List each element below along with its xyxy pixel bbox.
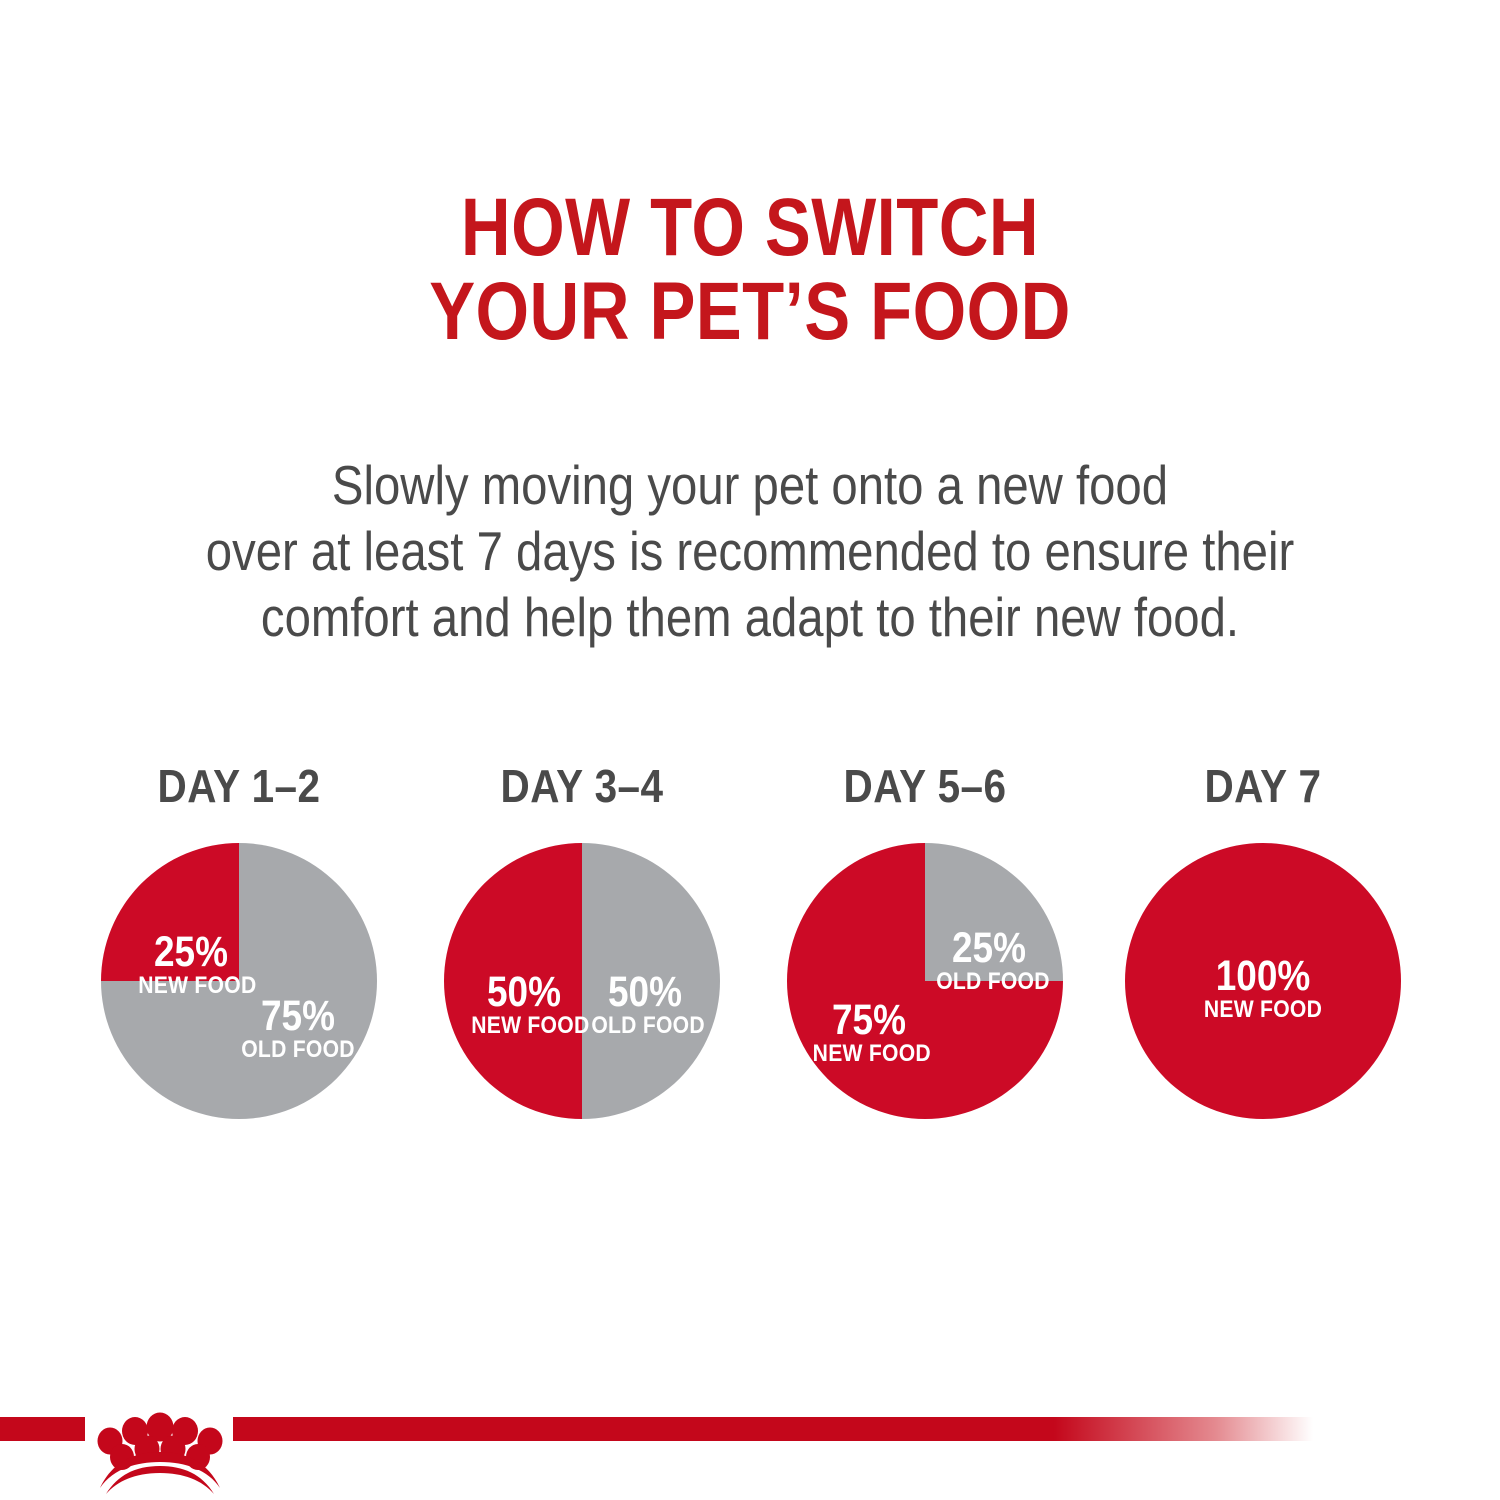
pie-chart-row: DAY 1–2 25% NEW FOOD 75% OLD FOOD DAY 3–… [0,762,1500,1182]
royal-canin-crown-icon [82,1404,238,1494]
page-title: HOW TO SWITCH YOUR PET’S FOOD [0,186,1500,354]
intro-line-2: over at least 7 days is recommended to e… [105,518,1395,584]
footer-bar-right [233,1417,1313,1441]
intro-paragraph: Slowly moving your pet onto a new food o… [0,452,1500,650]
pie-group-day-3-4: DAY 3–4 50% NEW FOOD 50% OLD FOOD [407,762,757,1182]
pie-chart-day-1-2: 25% NEW FOOD 75% OLD FOOD [101,843,377,1119]
pie-disc-3 [787,843,1063,1119]
footer-bar-left [0,1417,85,1441]
day-label-1: DAY 1–2 [85,762,393,810]
pie-disc-2 [444,843,720,1119]
pie-group-day-1-2: DAY 1–2 25% NEW FOOD 75% OLD FOOD [64,762,414,1182]
footer [0,1404,1500,1500]
intro-line-1: Slowly moving your pet onto a new food [105,452,1395,518]
day-label-4: DAY 7 [1109,762,1417,810]
day-label-2: DAY 3–4 [428,762,736,810]
pie-disc-1 [101,843,377,1119]
page-title-line-1: HOW TO SWITCH [120,186,1380,270]
pie-group-day-7: DAY 7 100% NEW FOOD [1088,762,1438,1182]
pie-chart-day-3-4: 50% NEW FOOD 50% OLD FOOD [444,843,720,1119]
pie-chart-day-5-6: 25% OLD FOOD 75% NEW FOOD [787,843,1063,1119]
pie-group-day-5-6: DAY 5–6 25% OLD FOOD 75% NEW FOOD [750,762,1100,1182]
day-label-3: DAY 5–6 [771,762,1079,810]
page-title-line-2: YOUR PET’S FOOD [120,270,1380,354]
intro-line-3: comfort and help them adapt to their new… [105,584,1395,650]
pie-chart-day-7: 100% NEW FOOD [1125,843,1401,1119]
pie-disc-4 [1125,843,1401,1119]
